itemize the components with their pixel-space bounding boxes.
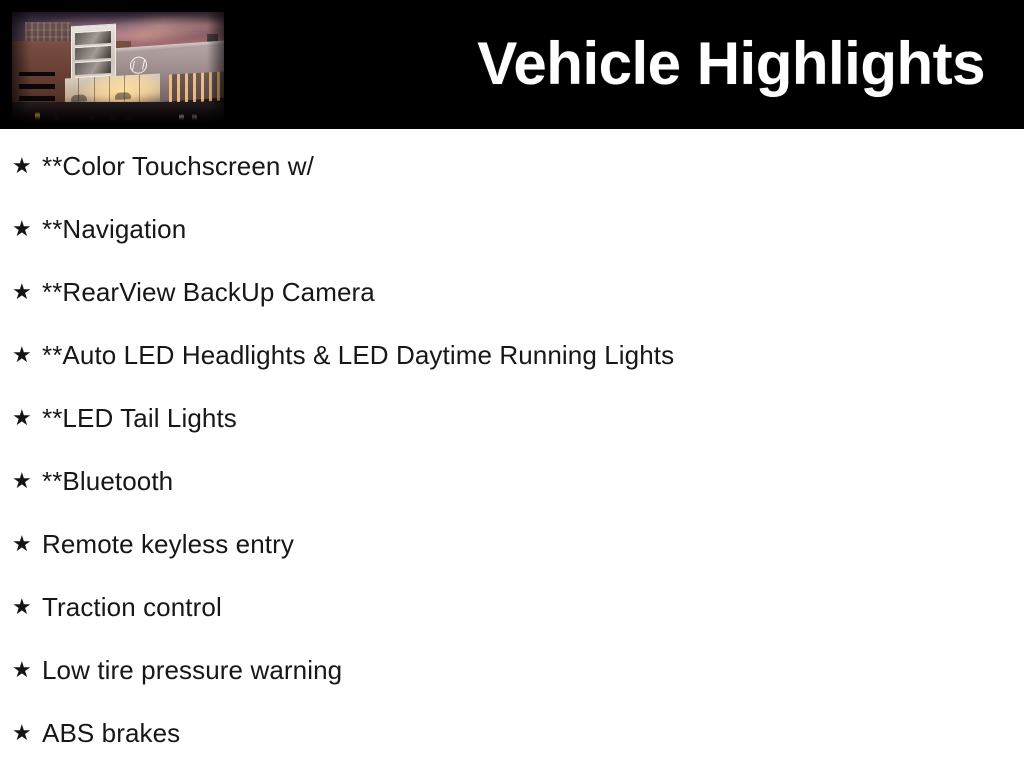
list-item: ★ **LED Tail Lights [12, 398, 1012, 438]
atrium-glass-pane [76, 45, 112, 60]
storefront-lights [169, 71, 224, 102]
photo-stage [12, 12, 224, 122]
list-item-label: ABS brakes [42, 716, 1012, 750]
showroom-vehicle [71, 94, 87, 102]
plaza-foreground [12, 102, 224, 122]
slide: Vehicle Highlights ★ **Color Touchscreen… [0, 0, 1024, 768]
vehicle-highlights-list: ★ **Color Touchscreen w/ ★ **Navigation … [0, 129, 1024, 768]
star-icon: ★ [12, 470, 42, 492]
atrium-glass-pane [76, 60, 112, 75]
star-icon: ★ [12, 218, 42, 240]
pedestrian [126, 117, 131, 120]
star-icon: ★ [12, 407, 42, 429]
pedestrian [179, 114, 184, 119]
list-item-label: **LED Tail Lights [42, 401, 1012, 435]
list-item: ★ **Color Touchscreen w/ [12, 146, 1012, 186]
list-item: ★ Traction control [12, 587, 1012, 627]
star-icon: ★ [12, 281, 42, 303]
volkswagen-logo-icon [130, 57, 147, 75]
star-icon: ★ [12, 344, 42, 366]
star-icon: ★ [12, 659, 42, 681]
list-item: ★ ABS brakes [12, 713, 1012, 753]
brick-window-slot [19, 72, 55, 77]
list-item-label: Traction control [42, 590, 1012, 624]
star-icon: ★ [12, 722, 42, 744]
list-item: ★ **Bluetooth [12, 461, 1012, 501]
pedestrian [192, 114, 197, 120]
page-title: Vehicle Highlights [477, 28, 985, 100]
brick-window-slot [19, 96, 55, 101]
atrium-glass-pane [76, 30, 112, 45]
star-icon: ★ [12, 596, 42, 618]
list-item-label: Low tire pressure warning [42, 653, 1012, 687]
pedestrian [110, 116, 115, 119]
list-item: ★ Remote keyless entry [12, 524, 1012, 564]
pedestrian [54, 113, 59, 120]
list-item: ★ **Auto LED Headlights & LED Daytime Ru… [12, 335, 1012, 375]
list-item-label: **Auto LED Headlights & LED Daytime Runn… [42, 338, 1012, 372]
list-item-label: Remote keyless entry [42, 527, 1012, 561]
star-icon: ★ [12, 155, 42, 177]
list-item: ★ **Navigation [12, 209, 1012, 249]
pedestrian [90, 116, 95, 119]
list-item-label: **RearView BackUp Camera [42, 275, 1012, 309]
list-item-label: **Color Touchscreen w/ [42, 149, 1012, 183]
brick-window-slot [19, 84, 55, 89]
showroom-vehicle [115, 92, 131, 100]
list-item: ★ **RearView BackUp Camera [12, 272, 1012, 312]
pedestrian [35, 112, 40, 120]
star-icon: ★ [12, 533, 42, 555]
volkswagen-dealership-photo [12, 12, 224, 122]
list-item-label: **Bluetooth [42, 464, 1012, 498]
list-item: ★ Low tire pressure warning [12, 650, 1012, 690]
header-band: Vehicle Highlights [0, 0, 1024, 129]
list-item-label: **Navigation [42, 212, 1012, 246]
